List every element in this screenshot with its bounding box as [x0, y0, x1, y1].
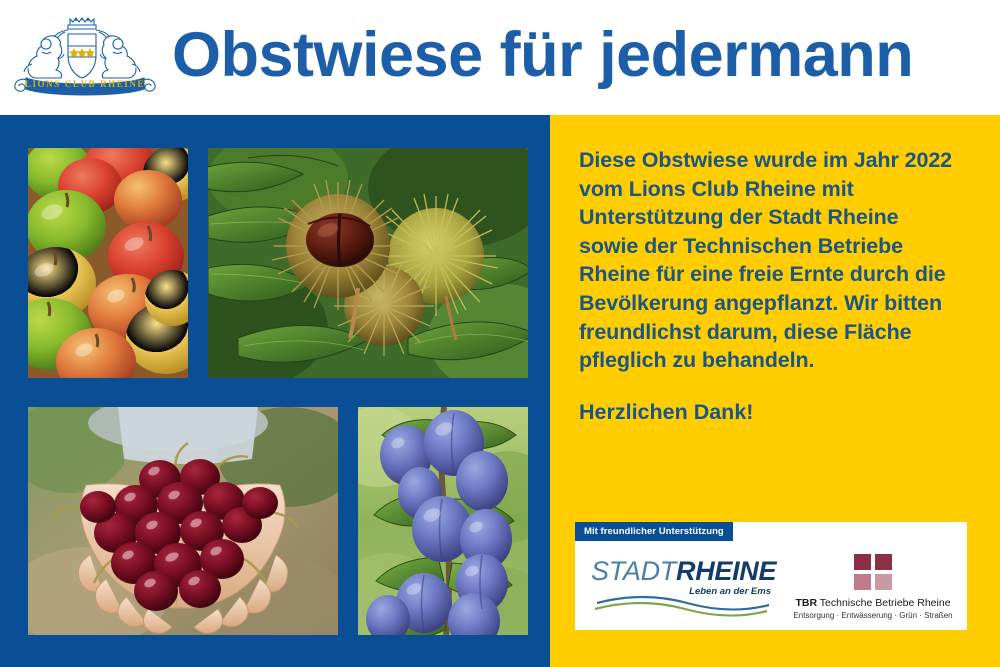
tbr-squares-icon	[854, 554, 892, 590]
stadt-wave-icon	[591, 595, 771, 617]
lions-club-crest-icon: LIONS CLUB RHEINE	[10, 12, 160, 104]
crest-motto-text: LIONS CLUB RHEINE	[25, 79, 145, 89]
thanks-line: Herzlichen Dank!	[579, 400, 753, 425]
chestnut-illustration	[208, 148, 528, 378]
tbr-square-bottom-right	[875, 574, 892, 590]
tbr-name-line: TBR Technische Betriebe Rheine	[795, 597, 950, 610]
plums-illustration	[358, 407, 528, 635]
support-badge: Mit freundlicher Unterstützung	[575, 522, 733, 541]
sponsor-panel: Mit freundlicher Unterstützung STADTRHEI…	[575, 522, 967, 630]
sponsor-logos-row: STADTRHEINE Leben an der Ems TBR Technis…	[575, 544, 967, 630]
lions-club-crest-logo: LIONS CLUB RHEINE	[0, 8, 170, 108]
tbr-square-top-right	[875, 554, 892, 570]
photo-apples	[28, 148, 188, 378]
stadt-rheine-logo: STADTRHEINE Leben an der Ems	[575, 558, 775, 617]
cherries-in-hands-illustration	[28, 407, 338, 635]
stadt-rheine-wordmark: STADTRHEINE	[591, 558, 776, 585]
apples-illustration	[28, 148, 188, 378]
tbr-square-bottom-left	[854, 574, 871, 590]
page-title: Obstwiese für jedermann	[172, 24, 913, 87]
stadt-word: STADT	[591, 556, 676, 586]
tbr-full-name: Technische Betriebe Rheine	[820, 597, 951, 609]
tbr-services: Entsorgung · Entwässerung · Grün · Straß…	[793, 611, 952, 620]
photo-cherries	[28, 407, 338, 635]
tbr-square-top-left	[854, 554, 871, 570]
photo-chestnut	[208, 148, 528, 378]
info-paragraph: Diese Obstwiese wurde im Jahr 2022 vom L…	[579, 146, 959, 375]
header-bar: LIONS CLUB RHEINE Obstwiese für jederman…	[0, 0, 1000, 115]
photo-plums	[358, 407, 528, 635]
tbr-abbr: TBR	[795, 597, 817, 609]
tbr-logo: TBR Technische Betriebe Rheine Entsorgun…	[775, 554, 967, 621]
rheine-word: RHEINE	[676, 556, 776, 586]
